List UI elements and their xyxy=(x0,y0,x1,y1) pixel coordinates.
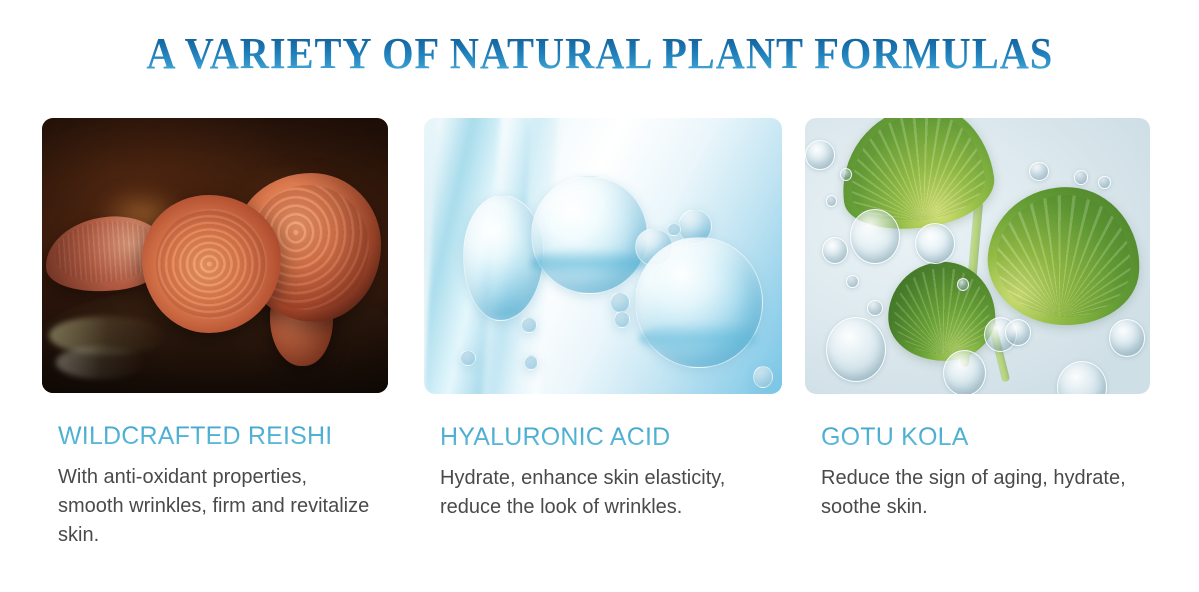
gotu-kola-leaf-lower xyxy=(885,259,997,364)
headline-text: A VARIETY OF NATURAL PLANT FORMULAS xyxy=(146,28,1053,80)
water-bubble xyxy=(805,140,835,170)
water-bubble xyxy=(1109,319,1146,357)
water-bubble xyxy=(850,209,900,263)
water-bubble xyxy=(1029,162,1048,181)
card-description-gotu-kola: Reduce the sign of aging, hydrate, sooth… xyxy=(805,451,1131,522)
water-bubble xyxy=(1098,176,1110,189)
gotu-kola-leaf-right xyxy=(983,182,1144,330)
card-description-hyaluronic-acid: Hydrate, enhance skin elasticity, reduce… xyxy=(424,451,740,522)
card-title-wildcrafted-reishi: WILDCRAFTED REISHI xyxy=(42,393,388,450)
water-bubble-b xyxy=(610,292,630,313)
water-bubble-d xyxy=(521,317,537,333)
water-bubble xyxy=(826,195,837,206)
water-bubble xyxy=(1074,170,1088,184)
reishi-mushroom-image xyxy=(42,118,388,393)
water-bubble xyxy=(867,300,883,316)
promo-banner: A VARIETY OF NATURAL PLANT FORMULAS WILD… xyxy=(0,0,1199,592)
water-bubble xyxy=(840,168,852,181)
ingredient-card-hyaluronic-acid[interactable]: HYALURONIC ACID Hydrate, enhance skin el… xyxy=(424,118,782,522)
water-bubble-g xyxy=(460,350,476,366)
moss-patch-secondary xyxy=(56,346,146,379)
water-bubble xyxy=(1005,319,1031,346)
water-bubble xyxy=(1057,361,1107,394)
water-bubble-c xyxy=(614,311,630,328)
ingredient-card-gotu-kola[interactable]: GOTU KOLA Reduce the sign of aging, hydr… xyxy=(805,118,1150,522)
page-title: A VARIETY OF NATURAL PLANT FORMULAS xyxy=(0,28,1199,80)
card-title-hyaluronic-acid: HYALURONIC ACID xyxy=(424,394,782,451)
water-bubble xyxy=(826,317,887,382)
leaf-veins xyxy=(892,265,991,357)
water-bubble-f xyxy=(753,366,773,387)
ingredient-card-wildcrafted-reishi[interactable]: WILDCRAFTED REISHI With anti-oxidant pro… xyxy=(42,118,388,550)
card-title-gotu-kola: GOTU KOLA xyxy=(805,394,1150,451)
ingredient-cards: WILDCRAFTED REISHI With anti-oxidant pro… xyxy=(0,118,1199,578)
water-bubble xyxy=(915,223,955,264)
leaf-veins xyxy=(993,191,1135,321)
water-sphere-primary-band xyxy=(531,248,646,278)
card-description-wildcrafted-reishi: With anti-oxidant properties, smooth wri… xyxy=(42,450,376,550)
water-bubble xyxy=(822,237,848,264)
gotu-kola-image xyxy=(805,118,1150,394)
hyaluronic-acid-image xyxy=(424,118,782,394)
water-bubble xyxy=(846,275,858,288)
water-bubble xyxy=(943,350,986,394)
